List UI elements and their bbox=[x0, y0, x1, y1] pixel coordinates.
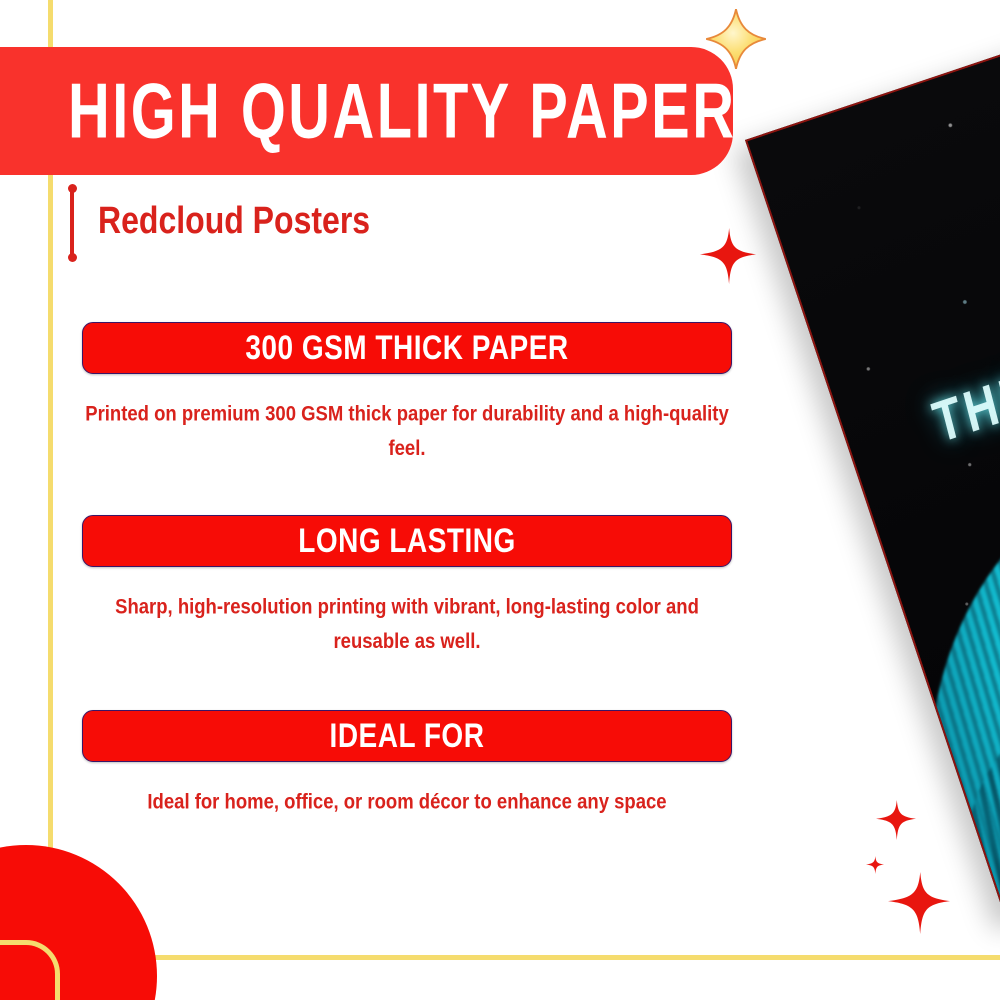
feature-label: LONG LASTING bbox=[298, 521, 516, 560]
feature-description: Ideal for home, office, or room décor to… bbox=[82, 784, 732, 819]
feature-item: IDEAL FOR Ideal for home, office, or roo… bbox=[82, 710, 732, 814]
feature-description: Printed on premium 300 GSM thick paper f… bbox=[82, 396, 732, 466]
feature-pill[interactable]: IDEAL FOR bbox=[82, 710, 732, 762]
feature-list: 300 GSM THICK PAPER Printed on premium 3… bbox=[0, 0, 1000, 1000]
feature-item: LONG LASTING Sharp, high-resolution prin… bbox=[82, 515, 732, 649]
feature-label: IDEAL FOR bbox=[330, 716, 485, 755]
feature-pill[interactable]: LONG LASTING bbox=[82, 515, 732, 567]
feature-item: 300 GSM THICK PAPER Printed on premium 3… bbox=[82, 322, 732, 456]
feature-label: 300 GSM THICK PAPER bbox=[245, 328, 568, 367]
feature-description: Sharp, high-resolution printing with vib… bbox=[82, 589, 732, 659]
poster-infographic: THIN HIGH QUALITY PAPER Redcloud Posters… bbox=[0, 0, 1000, 1000]
feature-pill[interactable]: 300 GSM THICK PAPER bbox=[82, 322, 732, 374]
